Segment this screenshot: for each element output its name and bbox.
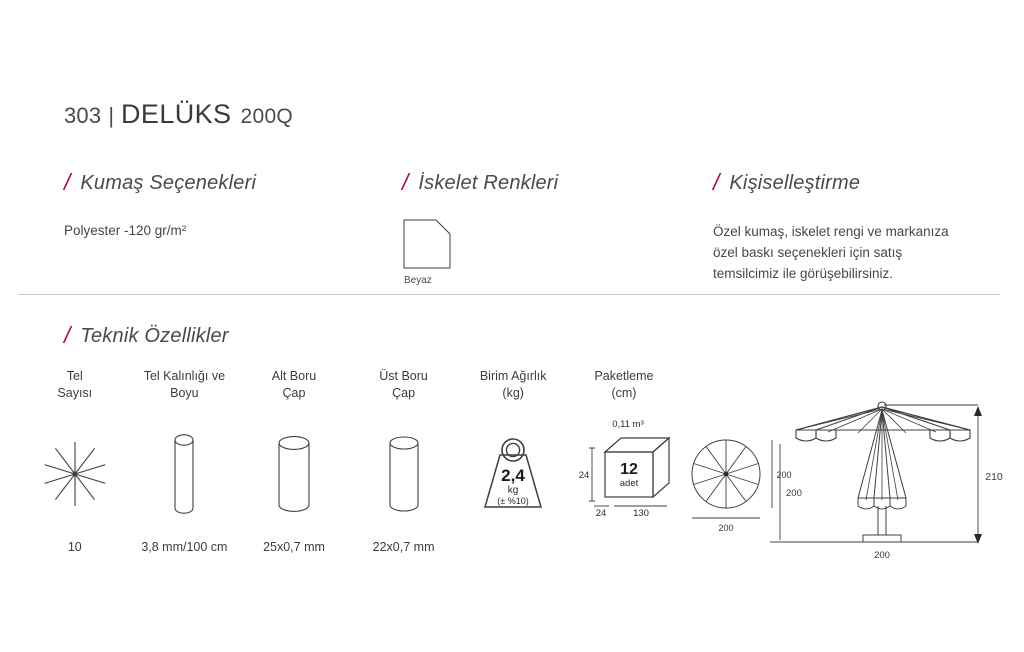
section-heading-frame: / İskelet Renkleri [402, 168, 558, 195]
spec-illustration [274, 418, 314, 530]
weight-icon: 2,4 kg (± %10) [472, 433, 554, 515]
spec-column-unit-weight: Birim Ağırlık (kg) 2,4 kg (± %10) [458, 368, 568, 554]
spec-value: 3,8 mm/100 cm [141, 540, 227, 554]
spec-illustration: 2,4 kg (± %10) [472, 418, 554, 530]
spec-column-wire-count: Tel Sayısı 10 [20, 368, 130, 554]
spec-header-line-1: Tel Kalınlığı ve [144, 368, 225, 385]
spec-header-line-2: (kg) [480, 385, 547, 402]
swatch-label: Beyaz [403, 275, 451, 286]
umbrella-side-view-drawing: 200 210 200 [766, 392, 1006, 562]
spec-header-line-1: Birim Ağırlık [480, 368, 547, 385]
section-title-customization: Kişiselleştirme [729, 172, 860, 195]
section-heading-technical: / Teknik Özellikler [64, 321, 229, 348]
customization-line-3: temsilcimiz ile görüşebilirsiniz. [713, 264, 949, 285]
spec-column-packaging: Paketleme (cm) 0,11 m³ 12 adet [568, 368, 680, 554]
spec-header: Tel Sayısı [57, 368, 92, 404]
color-swatch-beyaz[interactable]: Beyaz [403, 219, 451, 286]
horizontal-divider [18, 294, 1000, 295]
package-volume-label: 0,11 m³ [612, 419, 644, 430]
spec-column-lower-pipe: Alt Boru Çap 25x0,7 mm [239, 368, 349, 554]
spec-column-wire-thickness: Tel Kalınlığı ve Boyu 3,8 mm/100 cm [130, 368, 240, 554]
top-view-horizontal-dim: 200 [718, 523, 733, 533]
spec-header-line-2: Çap [379, 385, 428, 402]
product-name: DELÜKS [121, 99, 231, 130]
swatch-shape-icon [403, 219, 451, 269]
package-height-label: 24 [579, 470, 590, 481]
thin-tube-icon [171, 432, 197, 516]
side-view-canopy-height-dim: 200 [786, 488, 802, 499]
side-view-span-dim: 200 [874, 550, 890, 561]
slash-accent-icon: / [713, 169, 729, 196]
product-model: 200Q [231, 105, 293, 129]
weight-tolerance: (± %10) [497, 496, 528, 506]
spec-illustration [171, 418, 197, 530]
tube-icon [274, 434, 314, 514]
side-view-total-height-dim: 210 [985, 471, 1003, 483]
fabric-description: Polyester -120 gr/m² [64, 221, 186, 242]
spec-header: Alt Boru Çap [272, 368, 316, 404]
spec-header: Tel Kalınlığı ve Boyu [144, 368, 225, 404]
spec-illustration: 0,11 m³ 12 adet 24 24 [568, 410, 680, 522]
package-box-icon: 0,11 m³ 12 adet 24 24 [568, 414, 680, 518]
package-width-label: 130 [633, 508, 649, 518]
section-heading-customization: / Kişiselleştirme [713, 168, 860, 195]
title-separator: | [101, 103, 121, 129]
slash-accent-icon: / [64, 322, 80, 349]
product-code: 303 [64, 103, 101, 129]
section-title-fabric: Kumaş Seçenekleri [80, 172, 256, 195]
spec-value: 22x0,7 mm [373, 540, 435, 554]
slash-accent-icon: / [64, 169, 80, 196]
section-title-frame: İskelet Renkleri [418, 172, 558, 195]
package-quantity-unit: adet [620, 478, 639, 489]
spec-header-line-2: (cm) [594, 385, 653, 402]
spec-header-line-1: Tel [57, 368, 92, 385]
spec-header-line-1: Alt Boru [272, 368, 316, 385]
side-view-svg: 200 210 200 [766, 392, 1006, 562]
spec-illustration [385, 418, 423, 530]
weight-value: 2,4 [501, 466, 525, 485]
package-depth-label: 24 [596, 508, 607, 518]
spec-value: 25x0,7 mm [263, 540, 325, 554]
customization-line-2: özel baskı seçenekleri için satış [713, 243, 949, 264]
slash-accent-icon: / [402, 169, 418, 196]
customization-description: Özel kumaş, iskelet rengi ve markanıza ö… [713, 222, 949, 285]
spec-header-line-2: Çap [272, 385, 316, 402]
spec-header-line-2: Boyu [144, 385, 225, 402]
spec-column-upper-pipe: Üst Boru Çap 22x0,7 mm [349, 368, 459, 554]
page-title: 303 | DELÜKS 200Q [64, 99, 293, 130]
spec-value: 10 [68, 540, 82, 554]
product-spec-sheet: 303 | DELÜKS 200Q / Kumaş Seçenekleri Po… [0, 0, 1024, 652]
package-quantity: 12 [620, 461, 638, 478]
spec-header: Üst Boru Çap [379, 368, 428, 404]
spec-header: Paketleme (cm) [594, 368, 653, 404]
spec-header-line-1: Paketleme [594, 368, 653, 385]
wire-star-icon [41, 440, 109, 508]
spec-header-line-1: Üst Boru [379, 368, 428, 385]
spec-illustration [41, 418, 109, 530]
spec-header: Birim Ağırlık (kg) [480, 368, 547, 404]
customization-line-1: Özel kumaş, iskelet rengi ve markanıza [713, 222, 949, 243]
spec-table: Tel Sayısı 10 Tel [20, 368, 680, 554]
weight-unit: kg [508, 485, 519, 496]
spec-header-line-2: Sayısı [57, 385, 92, 402]
tube-icon [385, 434, 423, 514]
section-title-technical: Teknik Özellikler [80, 325, 228, 348]
section-heading-fabric: / Kumaş Seçenekleri [64, 168, 256, 195]
